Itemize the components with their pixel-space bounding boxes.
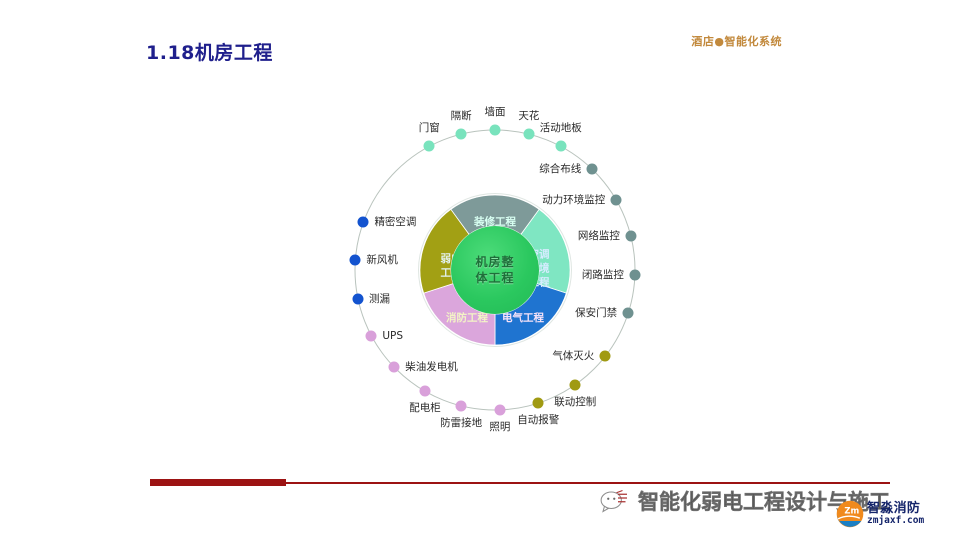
node-dot-icon <box>358 217 369 228</box>
node-label: 新风机 <box>366 255 398 266</box>
slide-canvas: 1.18机房工程 酒店●智能化系统 装修工程空调 环境 工程电气工程消防工程弱电… <box>0 0 960 540</box>
footer-rule-thin <box>150 482 890 484</box>
radial-diagram: 装修工程空调 环境 工程电气工程消防工程弱电 工程 机房整 体工程 天花墙面隔断… <box>300 95 690 445</box>
node-dot-icon <box>424 141 435 152</box>
node-label: 动力环境监控 <box>542 195 605 206</box>
svg-text:Zm: Zm <box>844 505 859 515</box>
logo-website: zmjaxf.com <box>867 516 924 526</box>
node-label: 网络监控 <box>578 231 620 242</box>
donut-center-hub: 机房整 体工程 <box>451 226 539 314</box>
node-dot-icon <box>456 400 467 411</box>
logo-company-name: 智淼消防 <box>867 502 924 516</box>
header-subtitle: 酒店●智能化系统 <box>691 33 782 49</box>
node-dot-icon <box>625 231 636 242</box>
node-dot-icon <box>533 398 544 409</box>
node-label: 天花 <box>518 111 539 122</box>
center-label-line-2: 体工程 <box>475 270 514 286</box>
node-dot-icon <box>611 195 622 206</box>
zmjaxf-logo-icon: Zm <box>836 500 864 528</box>
node-label: 气体灭火 <box>552 351 594 362</box>
node-dot-icon <box>523 129 534 140</box>
node-label: 门窗 <box>419 123 440 134</box>
node-label: 自动报警 <box>517 415 559 426</box>
node-dot-icon <box>420 386 431 397</box>
node-dot-icon <box>587 164 598 175</box>
node-label: 联动控制 <box>554 397 596 408</box>
node-label: 墙面 <box>485 107 506 118</box>
wechat-icon <box>600 488 630 514</box>
node-dot-icon <box>570 379 581 390</box>
node-dot-icon <box>555 141 566 152</box>
node-label: 闭路监控 <box>582 270 624 281</box>
node-label: 活动地板 <box>540 123 582 134</box>
node-dot-icon <box>629 269 640 280</box>
node-label: 照明 <box>489 422 510 433</box>
node-dot-icon <box>456 129 467 140</box>
node-dot-icon <box>350 255 361 266</box>
node-label: 防雷接地 <box>440 418 482 429</box>
page-title: 1.18机房工程 <box>146 38 273 65</box>
brand-logo: Zm 智淼消防 zmjaxf.com <box>836 500 924 528</box>
node-dot-icon <box>600 351 611 362</box>
node-dot-icon <box>353 294 364 305</box>
node-dot-icon <box>389 362 400 373</box>
node-label: 保安门禁 <box>575 308 617 319</box>
node-dot-icon <box>623 308 634 319</box>
donut-chart: 装修工程空调 环境 工程电气工程消防工程弱电 工程 机房整 体工程 <box>419 194 571 346</box>
node-label: UPS <box>382 331 403 342</box>
node-dot-icon <box>366 330 377 341</box>
node-label: 柴油发电机 <box>405 362 458 373</box>
node-label: 配电柜 <box>409 403 441 414</box>
node-dot-icon <box>494 404 505 415</box>
center-label-line-1: 机房整 <box>475 254 514 270</box>
node-label: 精密空调 <box>374 217 416 228</box>
node-label: 综合布线 <box>539 164 581 175</box>
node-dot-icon <box>490 125 501 136</box>
node-label: 测漏 <box>369 294 390 305</box>
node-label: 隔断 <box>451 111 472 122</box>
